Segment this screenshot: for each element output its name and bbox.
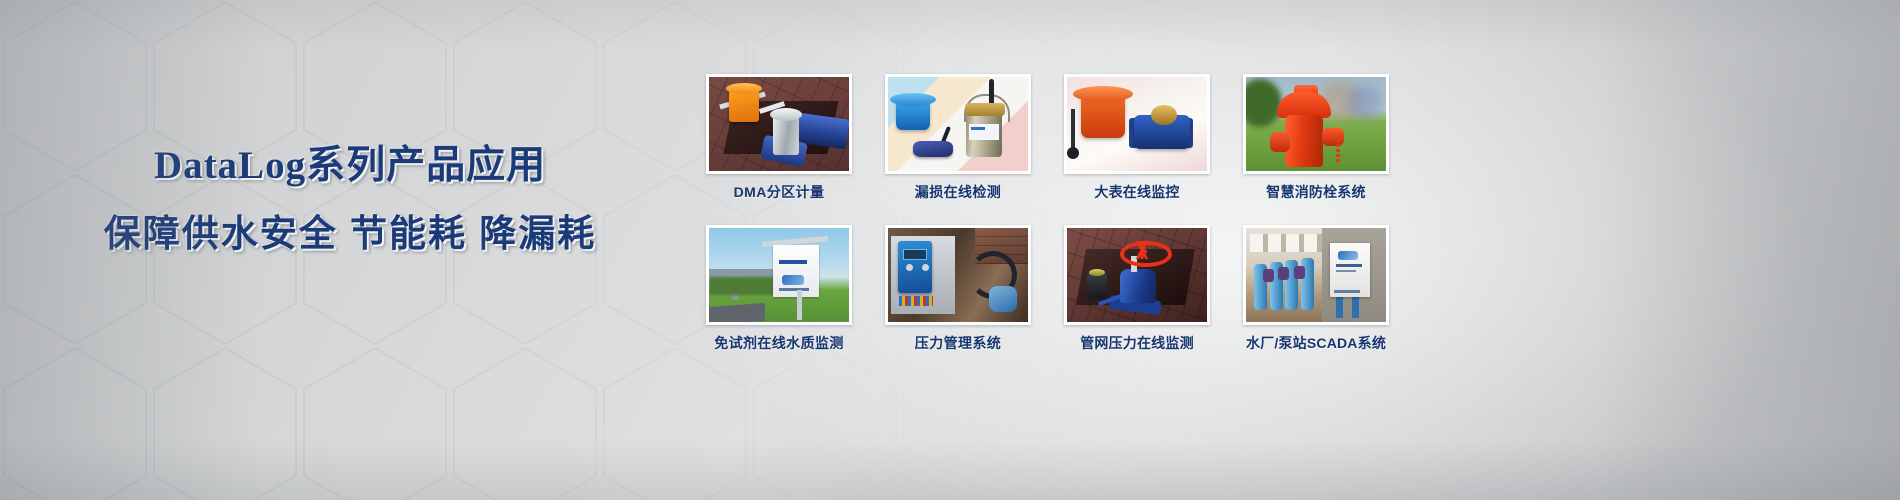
thumbnail-frame[interactable] — [1064, 225, 1210, 325]
headline-line-1: DataLog系列产品应用 — [0, 146, 700, 185]
product-cell-leakage-detection[interactable]: 漏损在线检测 — [885, 74, 1031, 202]
cell-caption: 智慧消防栓系统 — [1243, 182, 1389, 202]
cell-caption: 漏损在线检测 — [885, 182, 1031, 202]
grid-row-2: 免试剂在线水质监测 压力管理系统 — [706, 225, 1866, 353]
cell-caption: DMA分区计量 — [706, 182, 852, 202]
dma-metering-photo — [709, 77, 849, 171]
product-application-grid: DMA分区计量 漏损在线检测 — [706, 74, 1866, 353]
cell-caption: 压力管理系统 — [885, 333, 1031, 353]
thumbnail-frame[interactable] — [1243, 225, 1389, 325]
bulk-meter-photo — [1067, 77, 1207, 171]
water-quality-station-photo — [709, 228, 849, 322]
headline-line-2: 保障供水安全 节能耗 降漏耗 — [0, 215, 700, 252]
product-cell-dma-metering[interactable]: DMA分区计量 — [706, 74, 852, 202]
pipeline-pressure-valve-photo — [1067, 228, 1207, 322]
thumbnail-frame[interactable] — [706, 74, 852, 174]
thumbnail-frame[interactable] — [885, 74, 1031, 174]
product-cell-water-quality-monitoring[interactable]: 免试剂在线水质监测 — [706, 225, 852, 353]
product-cell-scada-system[interactable]: 水厂/泵站SCADA系统 — [1243, 225, 1389, 353]
pressure-controller-photo — [888, 228, 1028, 322]
cell-caption: 水厂/泵站SCADA系统 — [1243, 333, 1389, 353]
product-cell-bulk-meter-monitoring[interactable]: 大表在线监控 — [1064, 74, 1210, 202]
thumbnail-frame[interactable] — [1243, 74, 1389, 174]
product-cell-pressure-management[interactable]: 压力管理系统 — [885, 225, 1031, 353]
product-application-banner: DataLog系列产品应用 保障供水安全 节能耗 降漏耗 DMA分区计量 — [0, 0, 1900, 500]
product-cell-pipeline-pressure-monitoring[interactable]: 管网压力在线监测 — [1064, 225, 1210, 353]
thumbnail-frame[interactable] — [1064, 74, 1210, 174]
fire-hydrant-photo — [1246, 77, 1386, 171]
thumbnail-frame[interactable] — [885, 225, 1031, 325]
banner-headline: DataLog系列产品应用 保障供水安全 节能耗 降漏耗 — [0, 146, 700, 252]
cell-caption: 管网压力在线监测 — [1064, 333, 1210, 353]
pump-station-scada-photo — [1246, 228, 1386, 322]
cell-caption: 大表在线监控 — [1064, 182, 1210, 202]
thumbnail-frame[interactable] — [706, 225, 852, 325]
grid-row-1: DMA分区计量 漏损在线检测 — [706, 74, 1866, 202]
leakage-logger-photo — [888, 77, 1028, 171]
product-cell-smart-hydrant[interactable]: 智慧消防栓系统 — [1243, 74, 1389, 202]
cell-caption: 免试剂在线水质监测 — [706, 333, 852, 353]
